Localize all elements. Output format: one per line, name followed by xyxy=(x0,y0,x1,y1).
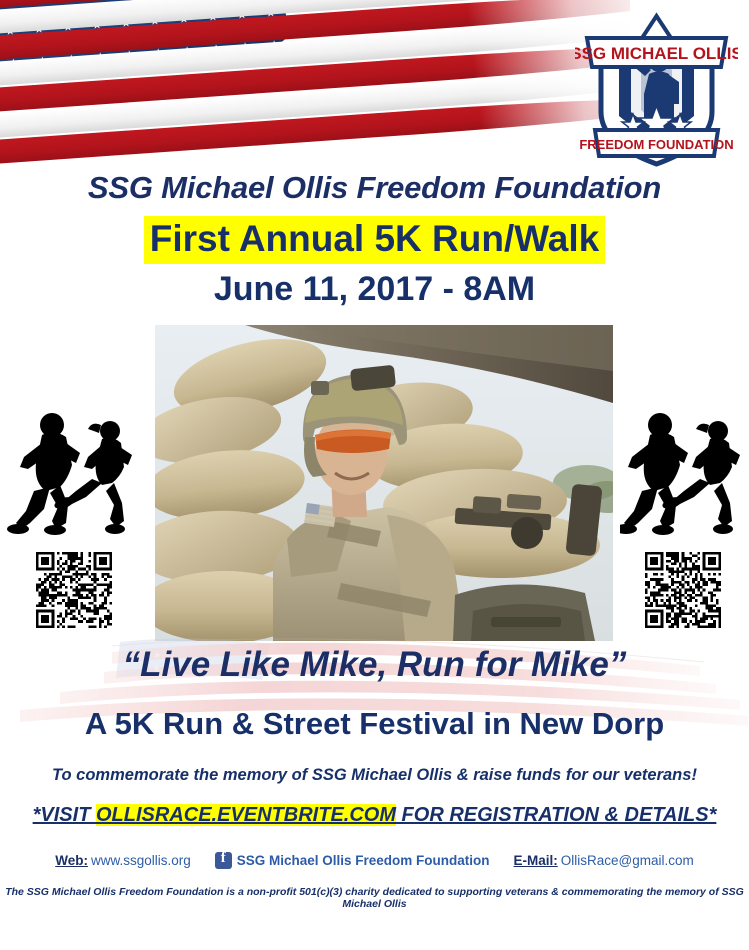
logo-top-text: SSG MICHAEL OLLIS xyxy=(575,44,738,63)
runner-silhouettes-left xyxy=(6,405,146,545)
event-subtitle: A 5K Run & Street Festival in New Dorp xyxy=(0,706,749,742)
logo-bottom-text: FREEDOM FOUNDATION xyxy=(579,137,733,152)
event-slogan: “Live Like Mike, Run for Mike” xyxy=(0,645,749,685)
email-label: E-Mail: xyxy=(514,853,558,868)
facebook-page-name[interactable]: SSG Michael Ollis Freedom Foundation xyxy=(237,853,490,868)
registration-link[interactable]: OLLISRACE.EVENTBRITE.COM xyxy=(96,804,396,826)
foundation-logo: SSG MICHAEL OLLIS FREEDOM FOUNDATION xyxy=(575,12,738,172)
email-address[interactable]: OllisRace@gmail.com xyxy=(561,853,694,868)
facebook-group[interactable]: SSG Michael Ollis Freedom Foundation xyxy=(215,852,490,869)
us-flag-banner: ★★★★★★★★★★★★★★★★★★★★★★★★★★★★★★★★★★★★★★★★… xyxy=(0,0,630,174)
soldier-photo xyxy=(155,325,613,641)
headline-wrapper: First Annual 5K Run/Walk xyxy=(0,216,749,264)
qr-code-left[interactable] xyxy=(36,552,112,628)
flyer-poster: ★★★★★★★★★★★★★★★★★★★★★★★★★★★★★★★★★★★★★★★★… xyxy=(0,0,749,950)
runner-silhouettes-right xyxy=(620,405,749,545)
charity-disclaimer: The SSG Michael Ollis Freedom Foundation… xyxy=(0,886,749,910)
qr-code-right[interactable] xyxy=(645,552,721,628)
contact-row: Web: www.ssgollis.org SSG Michael Ollis … xyxy=(0,852,749,869)
event-date-time: June 11, 2017 - 8AM xyxy=(0,270,749,309)
website-group[interactable]: Web: www.ssgollis.org xyxy=(55,853,191,868)
facebook-icon[interactable] xyxy=(215,852,232,869)
organization-title: SSG Michael Ollis Freedom Foundation xyxy=(0,170,749,206)
cta-prefix: *VISIT xyxy=(33,804,96,826)
web-url[interactable]: www.ssgollis.org xyxy=(91,853,191,868)
email-group[interactable]: E-Mail: OllisRace@gmail.com xyxy=(514,853,694,868)
cta-suffix: FOR REGISTRATION & DETAILS* xyxy=(396,804,716,826)
event-purpose: To commemorate the memory of SSG Michael… xyxy=(0,766,749,785)
web-label: Web: xyxy=(55,853,88,868)
event-headline: First Annual 5K Run/Walk xyxy=(144,216,606,264)
registration-cta: *VISIT OLLISRACE.EVENTBRITE.COM FOR REGI… xyxy=(0,804,749,827)
